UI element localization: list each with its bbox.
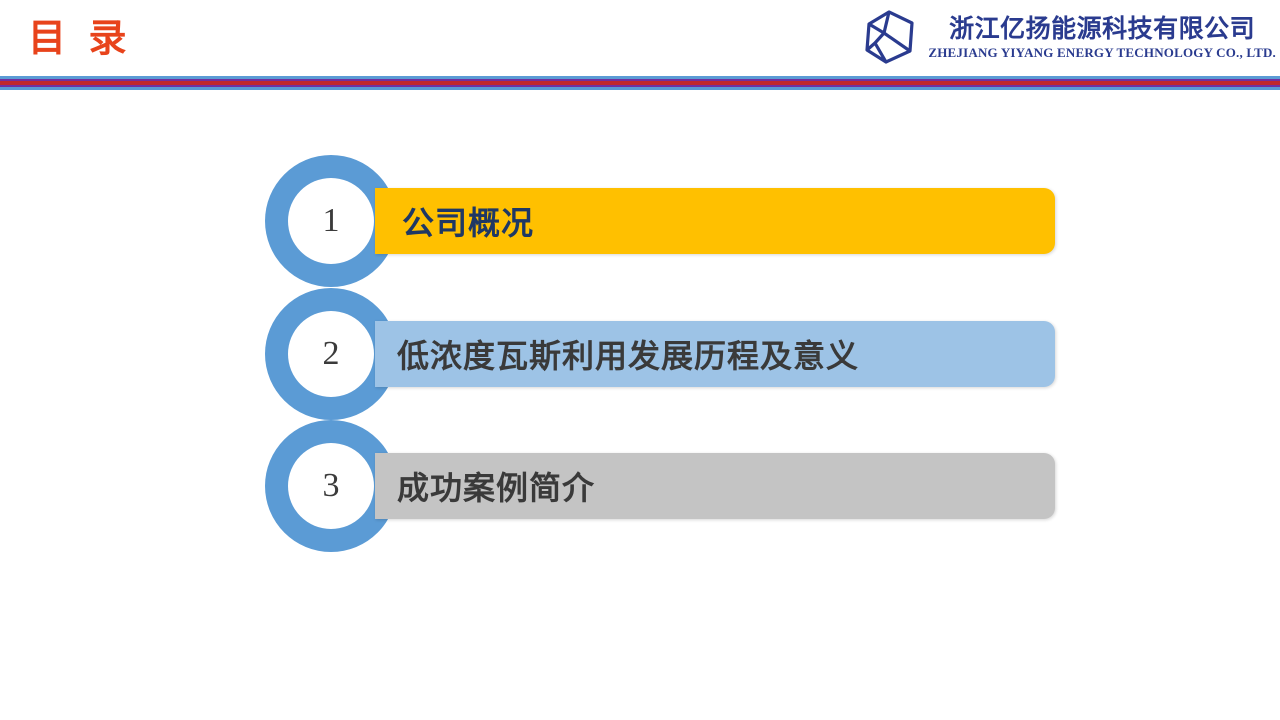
table-of-contents: 公司概况 1 低浓度瓦斯利用发展历程及意义 2 成功案例简介 3 [0, 0, 1280, 720]
toc-number-disc-1: 1 [288, 178, 374, 264]
toc-item-1[interactable]: 公司概况 1 [265, 155, 1055, 290]
toc-label-2: 低浓度瓦斯利用发展历程及意义 [397, 321, 1045, 387]
toc-bar-3[interactable]: 成功案例简介 [375, 453, 1055, 519]
toc-number-disc-2: 2 [288, 311, 374, 397]
toc-bar-1[interactable]: 公司概况 [375, 188, 1055, 254]
toc-number-disc-3: 3 [288, 443, 374, 529]
toc-number-3: 3 [323, 469, 340, 503]
toc-number-2: 2 [323, 337, 340, 371]
toc-number-1: 1 [323, 204, 340, 238]
toc-label-3: 成功案例简介 [397, 453, 1045, 519]
toc-item-2[interactable]: 低浓度瓦斯利用发展历程及意义 2 [265, 288, 1055, 423]
toc-item-3[interactable]: 成功案例简介 3 [265, 420, 1055, 555]
toc-label-1: 公司概况 [397, 188, 1045, 254]
toc-bar-2[interactable]: 低浓度瓦斯利用发展历程及意义 [375, 321, 1055, 387]
